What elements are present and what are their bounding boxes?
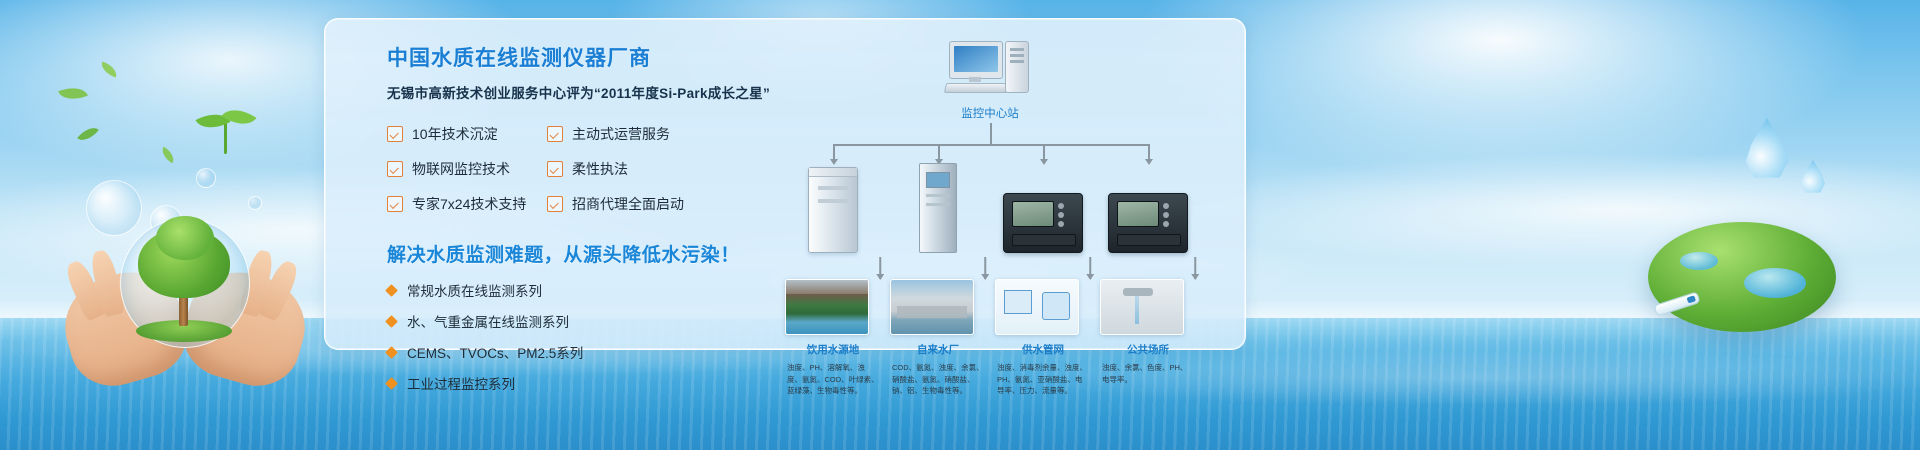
checklist-item-label: 专家7x24技术支持 xyxy=(412,194,526,214)
node-description: 浊度、消毒剂余量、浊度、PH、氨氮、亚硝酸盐、电导率、压力、流量等。 xyxy=(995,362,1091,397)
diagram-connector-drop xyxy=(938,144,940,160)
node-caption: 公共场所 xyxy=(1100,342,1196,357)
diagram-node: 供水管网 浊度、消毒剂余量、浊度、PH、氨氮、亚硝酸盐、电导率、压力、流量等。 xyxy=(995,161,1091,397)
checkbox-checked-icon xyxy=(387,126,403,142)
list-item-label: 常规水质在线监测系列 xyxy=(407,280,542,300)
list-item-label: 工业过程监控系列 xyxy=(407,373,515,393)
page-subtitle: 无锡市高新技术创业服务中心评为“2011年度Si-Park成长之星” xyxy=(387,82,757,102)
node-caption: 自来水厂 xyxy=(890,342,986,357)
checklist-item: 柔性执法 xyxy=(547,159,717,179)
checklist-item-label: 主动式运营服务 xyxy=(572,124,670,144)
diagram-node: 饮用水源地 浊度、PH、溶解氧、浊度、氨氮、COD、叶绿素、蓝绿藻、生物毒性等。 xyxy=(785,161,881,397)
diamond-bullet-icon xyxy=(385,284,398,297)
node-caption: 饮用水源地 xyxy=(785,342,881,357)
analyzer-device-icon xyxy=(1100,161,1196,253)
diagram-connector-drop xyxy=(1043,144,1045,160)
bubble-decoration xyxy=(196,168,216,188)
checkbox-checked-icon xyxy=(387,161,403,177)
hands-holding-tree-image xyxy=(60,212,320,392)
list-item: 常规水质在线监测系列 xyxy=(387,280,757,300)
list-item: CEMS、TVOCs、PM2.5系列 xyxy=(387,342,757,362)
bubble-decoration xyxy=(248,196,262,210)
scene-photo xyxy=(995,279,1079,335)
diamond-bullet-icon xyxy=(385,377,398,390)
checkbox-checked-icon xyxy=(547,196,563,212)
list-item: 工业过程监控系列 xyxy=(387,373,757,393)
diagram-node: 自来水厂 COD、氨氮、浊度、余氯、硝酸盐、氨氮、硝酸盐、钠、铝、生物毒性等。 xyxy=(890,161,986,397)
list-item-label: 水、气重金属在线监测系列 xyxy=(407,311,569,331)
hero-text-column: 中国水质在线监测仪器厂商 无锡市高新技术创业服务中心评为“2011年度Si-Pa… xyxy=(387,45,757,393)
list-item-label: CEMS、TVOCs、PM2.5系列 xyxy=(407,342,583,362)
cabinet-device-icon xyxy=(785,161,881,253)
diagram-node: 公共场所 浊度、余氯、色度、PH、电导率。 xyxy=(1100,161,1196,385)
checklist-item: 专家7x24技术支持 xyxy=(387,194,547,214)
monitoring-center-computer-icon xyxy=(949,41,1033,93)
scene-photo xyxy=(1100,279,1184,335)
analyzer-device-icon xyxy=(995,161,1091,253)
checklist-item: 主动式运营服务 xyxy=(547,124,717,144)
checkbox-checked-icon xyxy=(547,161,563,177)
system-architecture-diagram: 监控中心站 饮用水源地 浊度、PH、溶解氧、浊度、氨氮、COD、叶绿素、蓝绿藻、… xyxy=(777,33,1227,343)
checklist-item-label: 柔性执法 xyxy=(572,159,628,179)
banner-stage: 中国水质在线监测仪器厂商 无锡市高新技术创业服务中心评为“2011年度Si-Pa… xyxy=(0,0,1920,450)
node-description: 浊度、余氯、色度、PH、电导率。 xyxy=(1100,362,1196,385)
node-description: 浊度、PH、溶解氧、浊度、氨氮、COD、叶绿素、蓝绿藻、生物毒性等。 xyxy=(785,362,881,397)
checklist-item: 10年技术沉淀 xyxy=(387,124,547,144)
section-subheading: 解决水质监测难题，从源头降低水污染！ xyxy=(387,240,757,267)
diagram-connector-drop xyxy=(833,144,835,160)
diamond-bullet-icon xyxy=(385,315,398,328)
checklist-item-label: 招商代理全面启动 xyxy=(572,194,684,214)
checkbox-checked-icon xyxy=(387,196,403,212)
list-item: 水、气重金属在线监测系列 xyxy=(387,311,757,331)
checklist-item-label: 10年技术沉淀 xyxy=(412,124,498,144)
page-title: 中国水质在线监测仪器厂商 xyxy=(387,45,757,72)
checkbox-checked-icon xyxy=(547,126,563,142)
feature-checklist: 10年技术沉淀 主动式运营服务 物联网监控技术 柔性执法 专家7x24技术支持 xyxy=(387,124,757,214)
checklist-item: 物联网监控技术 xyxy=(387,159,547,179)
diagram-connector-trunk xyxy=(990,123,992,145)
checklist-item: 招商代理全面启动 xyxy=(547,194,717,214)
scene-photo xyxy=(785,279,869,335)
diagram-connector-bar xyxy=(833,144,1149,146)
hero-card: 中国水质在线监测仪器厂商 无锡市高新技术创业服务中心评为“2011年度Si-Pa… xyxy=(324,18,1246,350)
diagram-connector-drop xyxy=(1148,144,1150,160)
product-line-list: 常规水质在线监测系列 水、气重金属在线监测系列 CEMS、TVOCs、PM2.5… xyxy=(387,280,757,393)
green-earth-image xyxy=(1648,222,1836,344)
checklist-item-label: 物联网监控技术 xyxy=(412,159,510,179)
cabinet-device-icon xyxy=(890,161,986,253)
sprout-icon xyxy=(196,108,256,156)
diamond-bullet-icon xyxy=(385,346,398,359)
node-caption: 供水管网 xyxy=(995,342,1091,357)
scene-photo xyxy=(890,279,974,335)
node-description: COD、氨氮、浊度、余氯、硝酸盐、氨氮、硝酸盐、钠、铝、生物毒性等。 xyxy=(890,362,986,397)
monitoring-center-label: 监控中心站 xyxy=(895,105,1085,121)
